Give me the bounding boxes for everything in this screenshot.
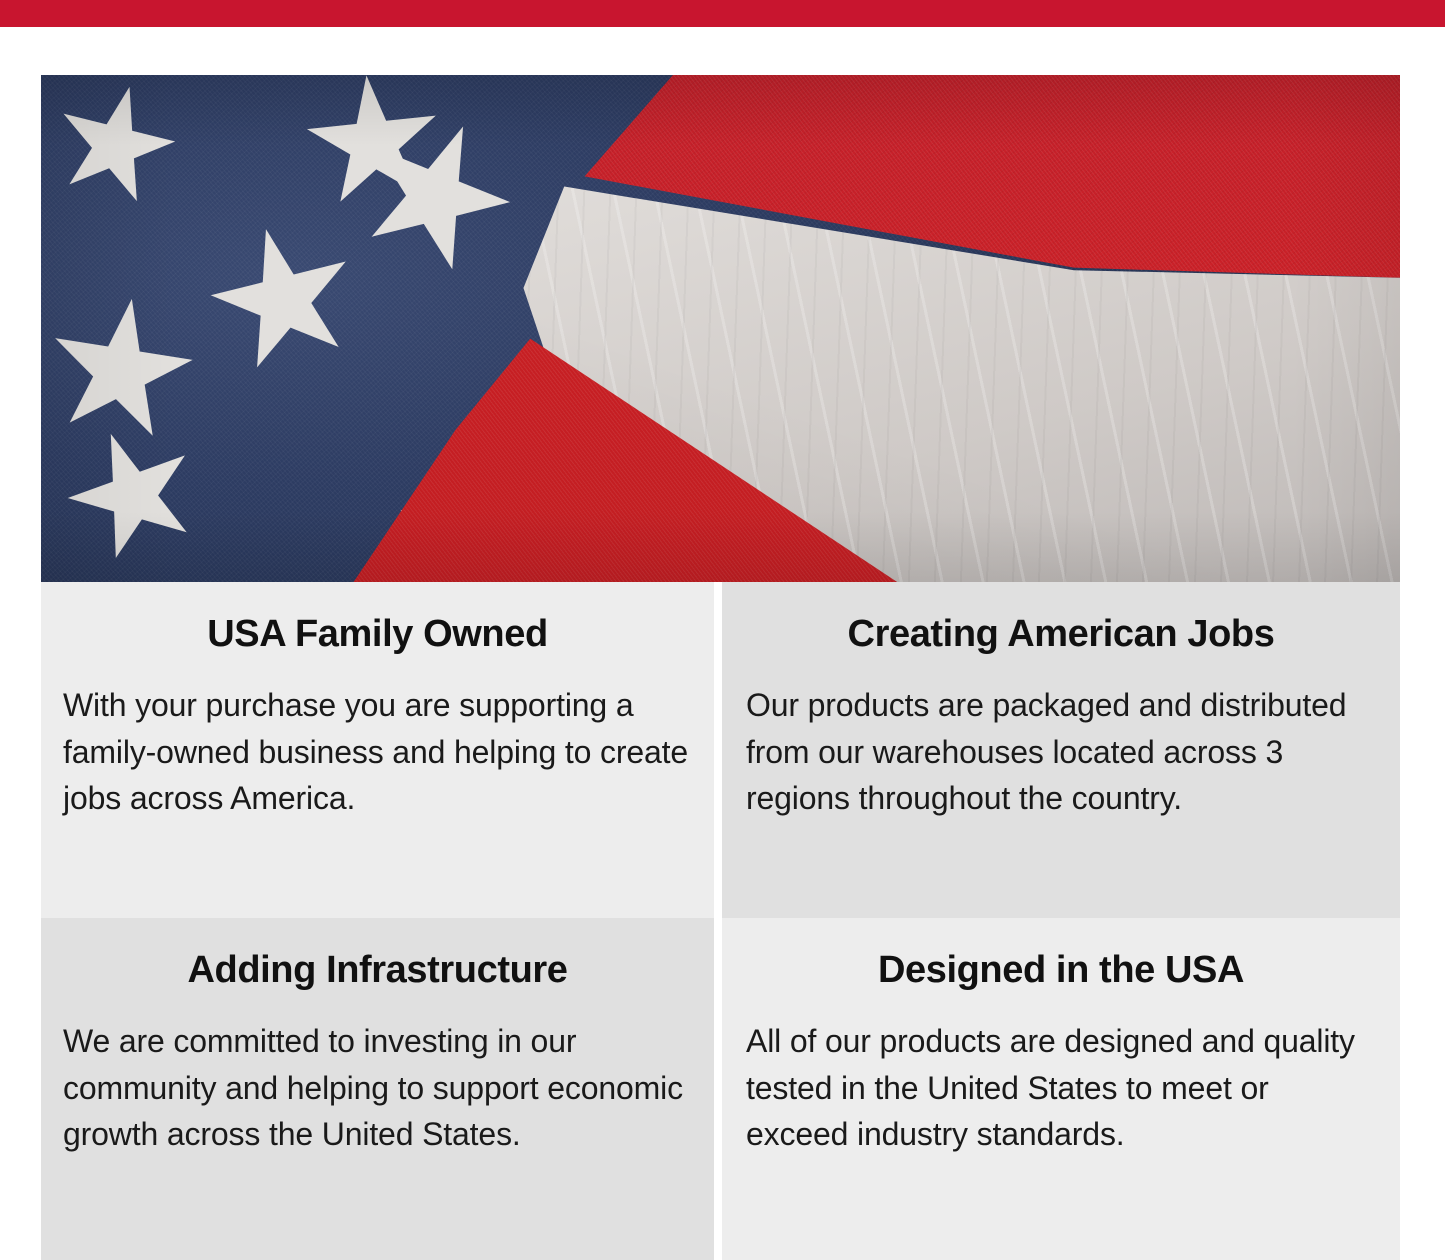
panel-designed-in-the-usa: Designed in the USA All of our products …	[722, 918, 1400, 1260]
panel-title-creating-american-jobs: Creating American Jobs	[744, 582, 1378, 655]
panel-creating-american-jobs: Creating American Jobs Our products are …	[722, 582, 1400, 918]
panel-body-designed-in-the-usa: All of our products are designed and qua…	[744, 991, 1378, 1158]
hero-flag-image	[41, 75, 1400, 582]
value-props-grid: USA Family Owned With your purchase you …	[41, 582, 1400, 1260]
panel-title-adding-infrastructure: Adding Infrastructure	[63, 918, 692, 991]
panel-usa-family-owned: USA Family Owned With your purchase you …	[41, 582, 714, 918]
american-flag-illustration	[41, 75, 1400, 582]
panel-adding-infrastructure: Adding Infrastructure We are committed t…	[41, 918, 714, 1260]
panel-body-adding-infrastructure: We are committed to investing in our com…	[63, 991, 692, 1158]
panel-body-creating-american-jobs: Our products are packaged and distribute…	[744, 655, 1378, 822]
panel-title-designed-in-the-usa: Designed in the USA	[744, 918, 1378, 991]
top-red-banner	[0, 0, 1445, 27]
panel-title-usa-family-owned: USA Family Owned	[63, 582, 692, 655]
panel-body-usa-family-owned: With your purchase you are supporting a …	[63, 655, 692, 822]
